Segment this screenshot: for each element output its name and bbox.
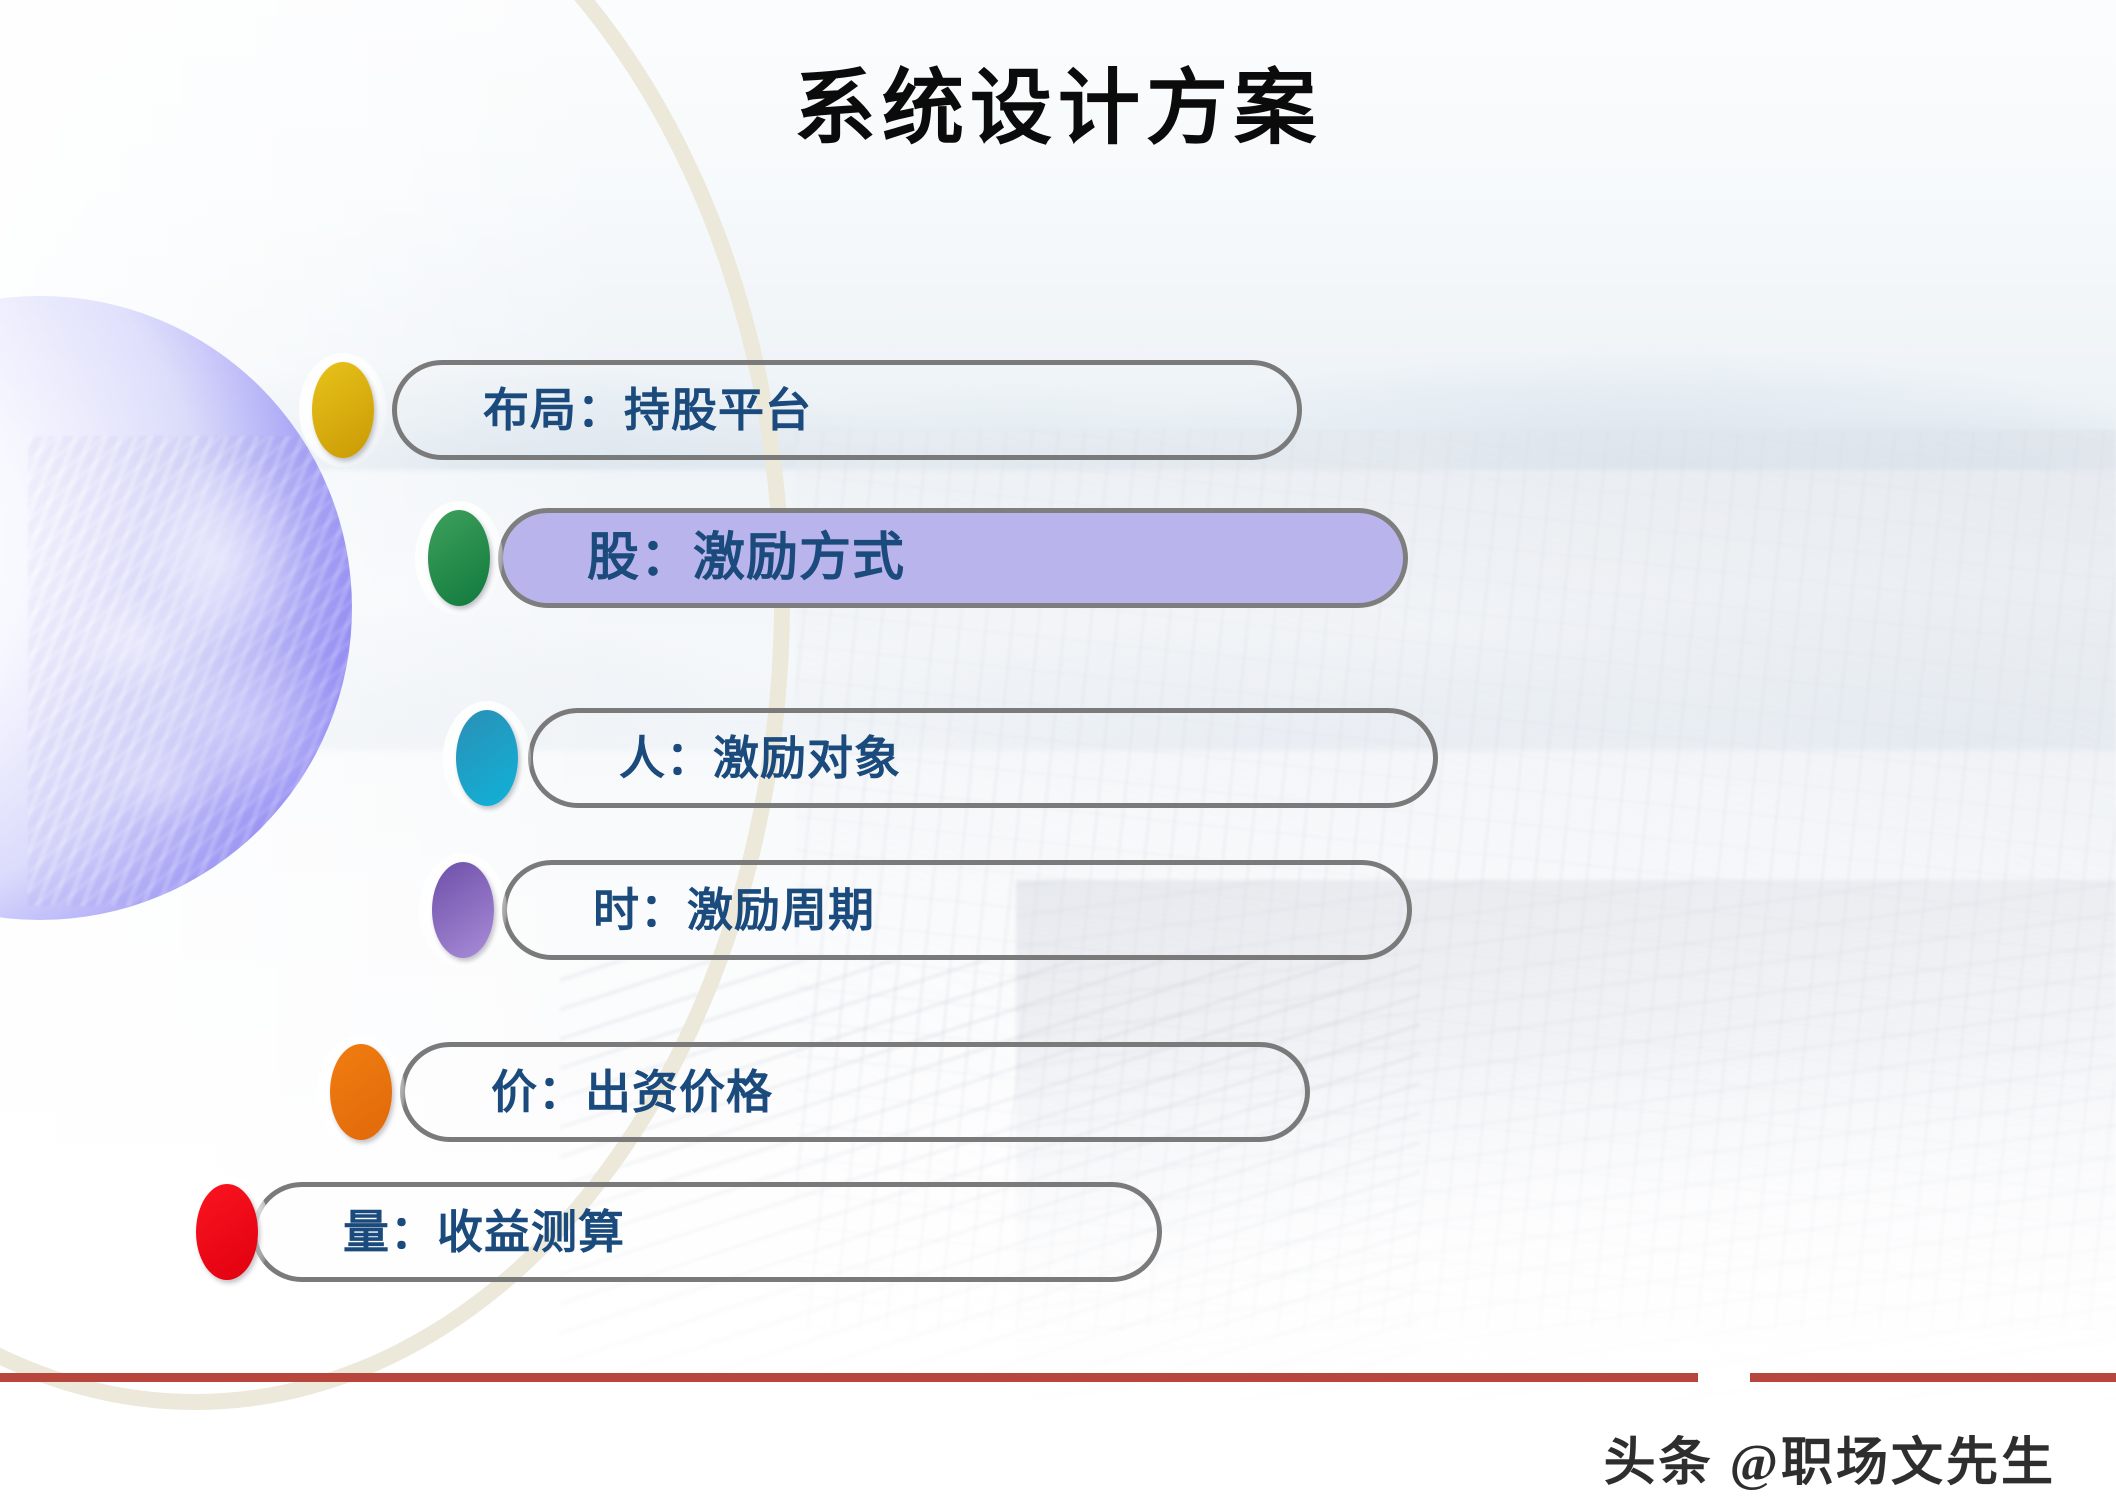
design-item-pill[interactable]: 时：激励周期 (502, 860, 1412, 960)
bullet-red-icon (196, 1184, 258, 1280)
design-item-label: 布局：持股平台 (397, 387, 812, 433)
bullet-body (456, 710, 518, 806)
page-title: 系统设计方案 (0, 64, 2116, 154)
bullet-green-icon (428, 510, 490, 606)
bullet-body (312, 362, 374, 458)
bullet-body (196, 1184, 258, 1280)
design-item-pill[interactable]: 量：收益测算 (252, 1182, 1162, 1282)
footer-rule-right (1750, 1373, 2116, 1382)
bullet-orange-icon (330, 1044, 392, 1140)
bullet-purple-icon (432, 862, 494, 958)
bullet-cyan-icon (456, 710, 518, 806)
watermark: 头条 @职场文先生 (0, 1420, 2116, 1495)
design-item-label: 价：出资价格 (405, 1069, 773, 1115)
footer-rule-left (0, 1373, 1698, 1382)
bullet-gold-icon (312, 362, 374, 458)
bullet-body (428, 510, 490, 606)
design-item-label: 股：激励方式 (503, 532, 905, 584)
bullet-body (330, 1044, 392, 1140)
design-item-pill[interactable]: 人：激励对象 (528, 708, 1438, 808)
design-item-label: 人：激励对象 (533, 735, 901, 781)
design-item-pill[interactable]: 价：出资价格 (400, 1042, 1310, 1142)
design-item-label: 时：激励周期 (507, 887, 875, 933)
bullet-body (432, 862, 494, 958)
presentation-slide: 系统设计方案 布局：持股平台股：激励方式人：激励对象时：激励周期价：出资价格量：… (0, 0, 2116, 1512)
design-item-label: 量：收益测算 (257, 1209, 625, 1255)
design-item-pill[interactable]: 股：激励方式 (498, 508, 1408, 608)
design-item-pill[interactable]: 布局：持股平台 (392, 360, 1302, 460)
design-items-list: 布局：持股平台股：激励方式人：激励对象时：激励周期价：出资价格量：收益测算 (0, 0, 2116, 1512)
